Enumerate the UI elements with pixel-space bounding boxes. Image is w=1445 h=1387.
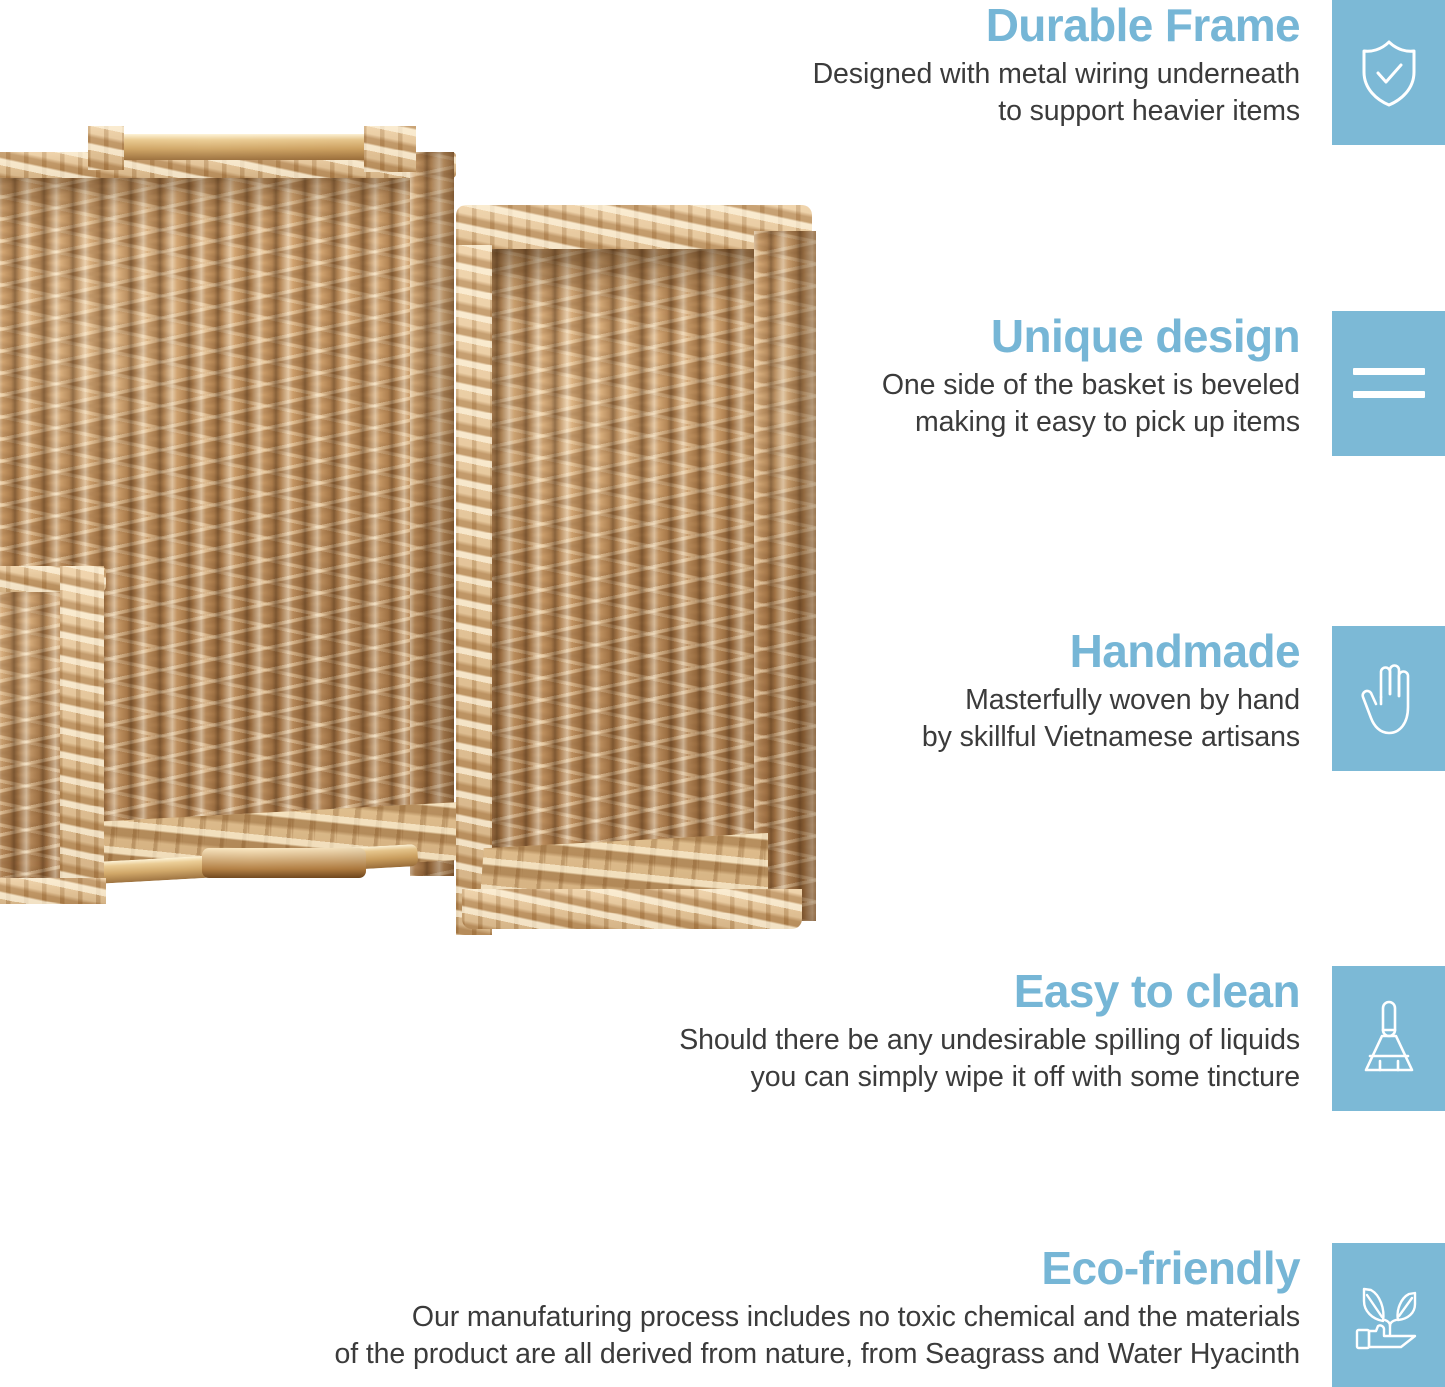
feature-description: Our manufaturing process includes no tox… bbox=[334, 1299, 1300, 1373]
feature-title: Unique design bbox=[882, 313, 1300, 360]
feature-text: Easy to clean Should there be any undesi… bbox=[679, 966, 1332, 1096]
feature-text: Eco-friendly Our manufaturing process in… bbox=[334, 1243, 1332, 1373]
handle-wrap-left bbox=[88, 126, 124, 170]
open-hand-icon bbox=[1360, 663, 1418, 735]
feature-icon-box bbox=[1332, 0, 1445, 145]
feature-block-easy-to-clean: Easy to clean Should there be any undesi… bbox=[600, 966, 1445, 1111]
feature-description: Designed with metal wiring underneath to… bbox=[813, 56, 1300, 130]
feature-description: One side of the basket is beveled making… bbox=[882, 367, 1300, 441]
feature-block-handmade: Handmade Masterfully woven by hand by sk… bbox=[600, 626, 1445, 771]
handle-wrap-right bbox=[364, 126, 416, 172]
feature-title: Handmade bbox=[922, 628, 1300, 675]
feature-icon-box bbox=[1332, 1243, 1445, 1387]
basket-rim-front bbox=[462, 889, 802, 929]
feature-icon-box bbox=[1332, 311, 1445, 456]
feature-title: Durable Frame bbox=[813, 2, 1300, 49]
two-bars-icon bbox=[1353, 364, 1425, 404]
product-feature-infographic: Durable Frame Designed with metal wiring… bbox=[0, 0, 1445, 1387]
feature-description: Masterfully woven by hand by skillful Vi… bbox=[922, 682, 1300, 756]
bamboo-handle-bar bbox=[108, 134, 388, 160]
basket-rim-bottom bbox=[0, 878, 106, 904]
feature-block-unique-design: Unique design One side of the basket is … bbox=[600, 311, 1445, 456]
feature-title: Eco-friendly bbox=[334, 1245, 1300, 1292]
feature-icon-box bbox=[1332, 966, 1445, 1111]
feature-icon-box bbox=[1332, 626, 1445, 771]
feature-title: Easy to clean bbox=[679, 968, 1300, 1015]
basket-corner-post bbox=[60, 566, 104, 896]
basket-side-panel bbox=[410, 152, 454, 876]
feature-text: Handmade Masterfully woven by hand by sk… bbox=[922, 626, 1332, 756]
bamboo-foot-cap bbox=[202, 848, 366, 878]
feature-block-durable-frame: Durable Frame Designed with metal wiring… bbox=[600, 0, 1445, 145]
feature-text: Unique design One side of the basket is … bbox=[882, 311, 1332, 441]
basket-corner-post bbox=[456, 245, 492, 935]
broom-icon bbox=[1358, 1000, 1420, 1078]
hand-plant-icon bbox=[1353, 1281, 1425, 1351]
feature-text: Durable Frame Designed with metal wiring… bbox=[813, 0, 1332, 130]
shield-check-icon bbox=[1358, 38, 1420, 108]
feature-block-eco-friendly: Eco-friendly Our manufaturing process in… bbox=[125, 1243, 1445, 1387]
feature-description: Should there be any undesirable spilling… bbox=[679, 1022, 1300, 1096]
small-front-left-basket bbox=[0, 560, 140, 920]
product-photo bbox=[0, 0, 830, 990]
